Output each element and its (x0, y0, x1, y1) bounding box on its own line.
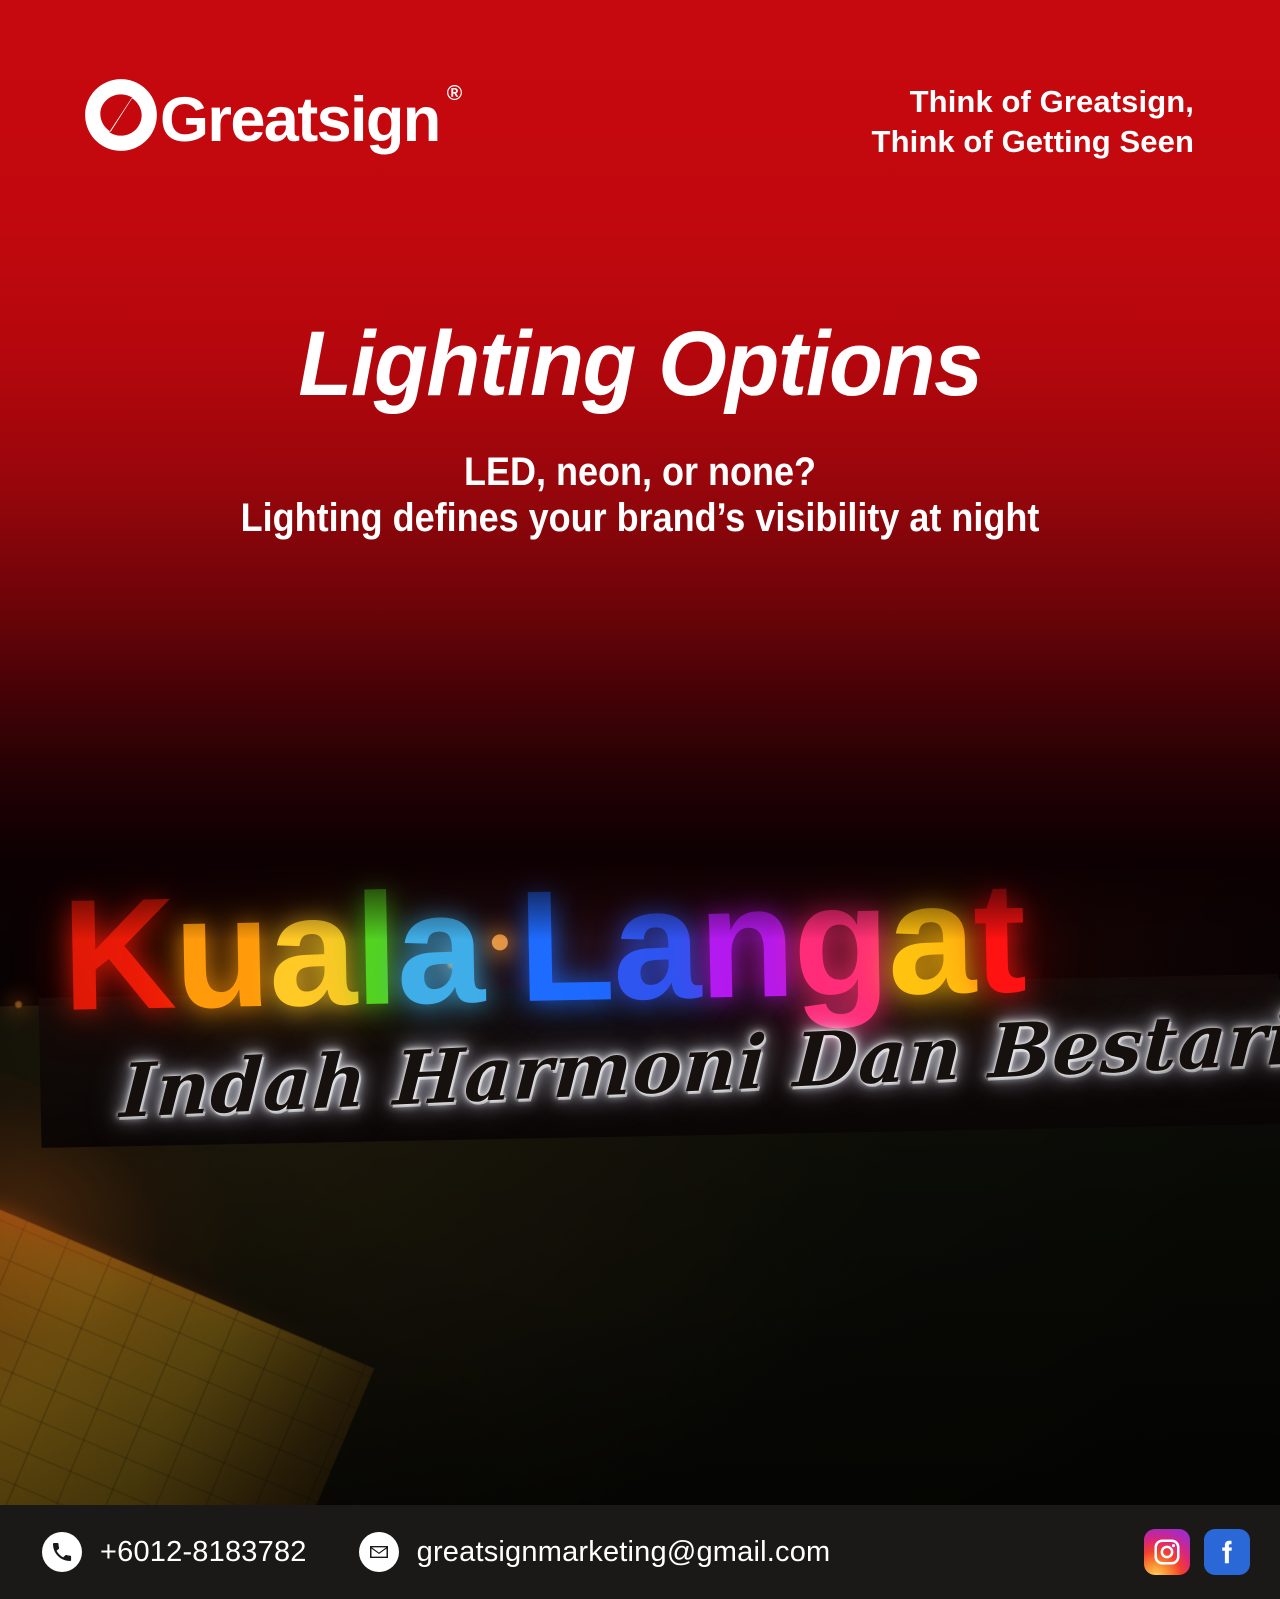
brand-tagline-line-2: Think of Getting Seen (872, 122, 1194, 162)
subtitle-line-1: LED, neon, or none? (64, 448, 1216, 496)
social-links (1144, 1529, 1250, 1575)
phone-contact[interactable]: +6012-8183782 (42, 1532, 307, 1572)
sign-letter: t (972, 851, 1026, 1024)
sign-letter: a (611, 858, 700, 1032)
facebook-icon[interactable] (1204, 1529, 1250, 1575)
registered-trademark-icon: ® (447, 82, 462, 106)
brand-tagline-line-1: Think of Greatsign, (872, 82, 1194, 122)
page-title: Lighting Options (26, 312, 1255, 416)
brand-tagline: Think of Greatsign, Think of Getting See… (872, 82, 1194, 162)
sign-letter: K (60, 868, 175, 1042)
subtitle-line-2: Lighting defines your brand’s visibility… (64, 494, 1216, 542)
greatsign-g-logo-icon (82, 76, 160, 159)
sign-letter: g (791, 854, 889, 1028)
email-contact[interactable]: greatsignmarketing@gmail.com (359, 1532, 831, 1572)
phone-icon (42, 1532, 82, 1572)
sign-letter: n (697, 856, 795, 1030)
sign-letter: a (395, 862, 484, 1036)
envelope-icon (359, 1532, 399, 1572)
sign-letter: a (886, 852, 975, 1026)
distant-light-secondary-icon (14, 1000, 23, 1009)
instagram-icon[interactable] (1144, 1529, 1190, 1575)
sign-letter: a (267, 864, 356, 1038)
contact-footer-bar: +6012-8183782 greatsignmarketing@gmail.c… (0, 1505, 1280, 1599)
sign-letter: u (172, 866, 270, 1040)
brand-wordmark: Greatsign (160, 89, 440, 152)
night-photo: KualaLangat Indah Harmoni Dan Bestari (0, 0, 1280, 1505)
email-address: greatsignmarketing@gmail.com (417, 1536, 831, 1569)
brand-logo[interactable]: Greatsign ® (82, 76, 461, 159)
sign-separator-dot-icon (492, 935, 508, 951)
sign-letter: l (353, 863, 398, 1036)
phone-number: +6012-8183782 (100, 1536, 307, 1569)
sign-letter: L (517, 859, 615, 1033)
poster-root: KualaLangat Indah Harmoni Dan Bestari Gr… (0, 0, 1280, 1599)
